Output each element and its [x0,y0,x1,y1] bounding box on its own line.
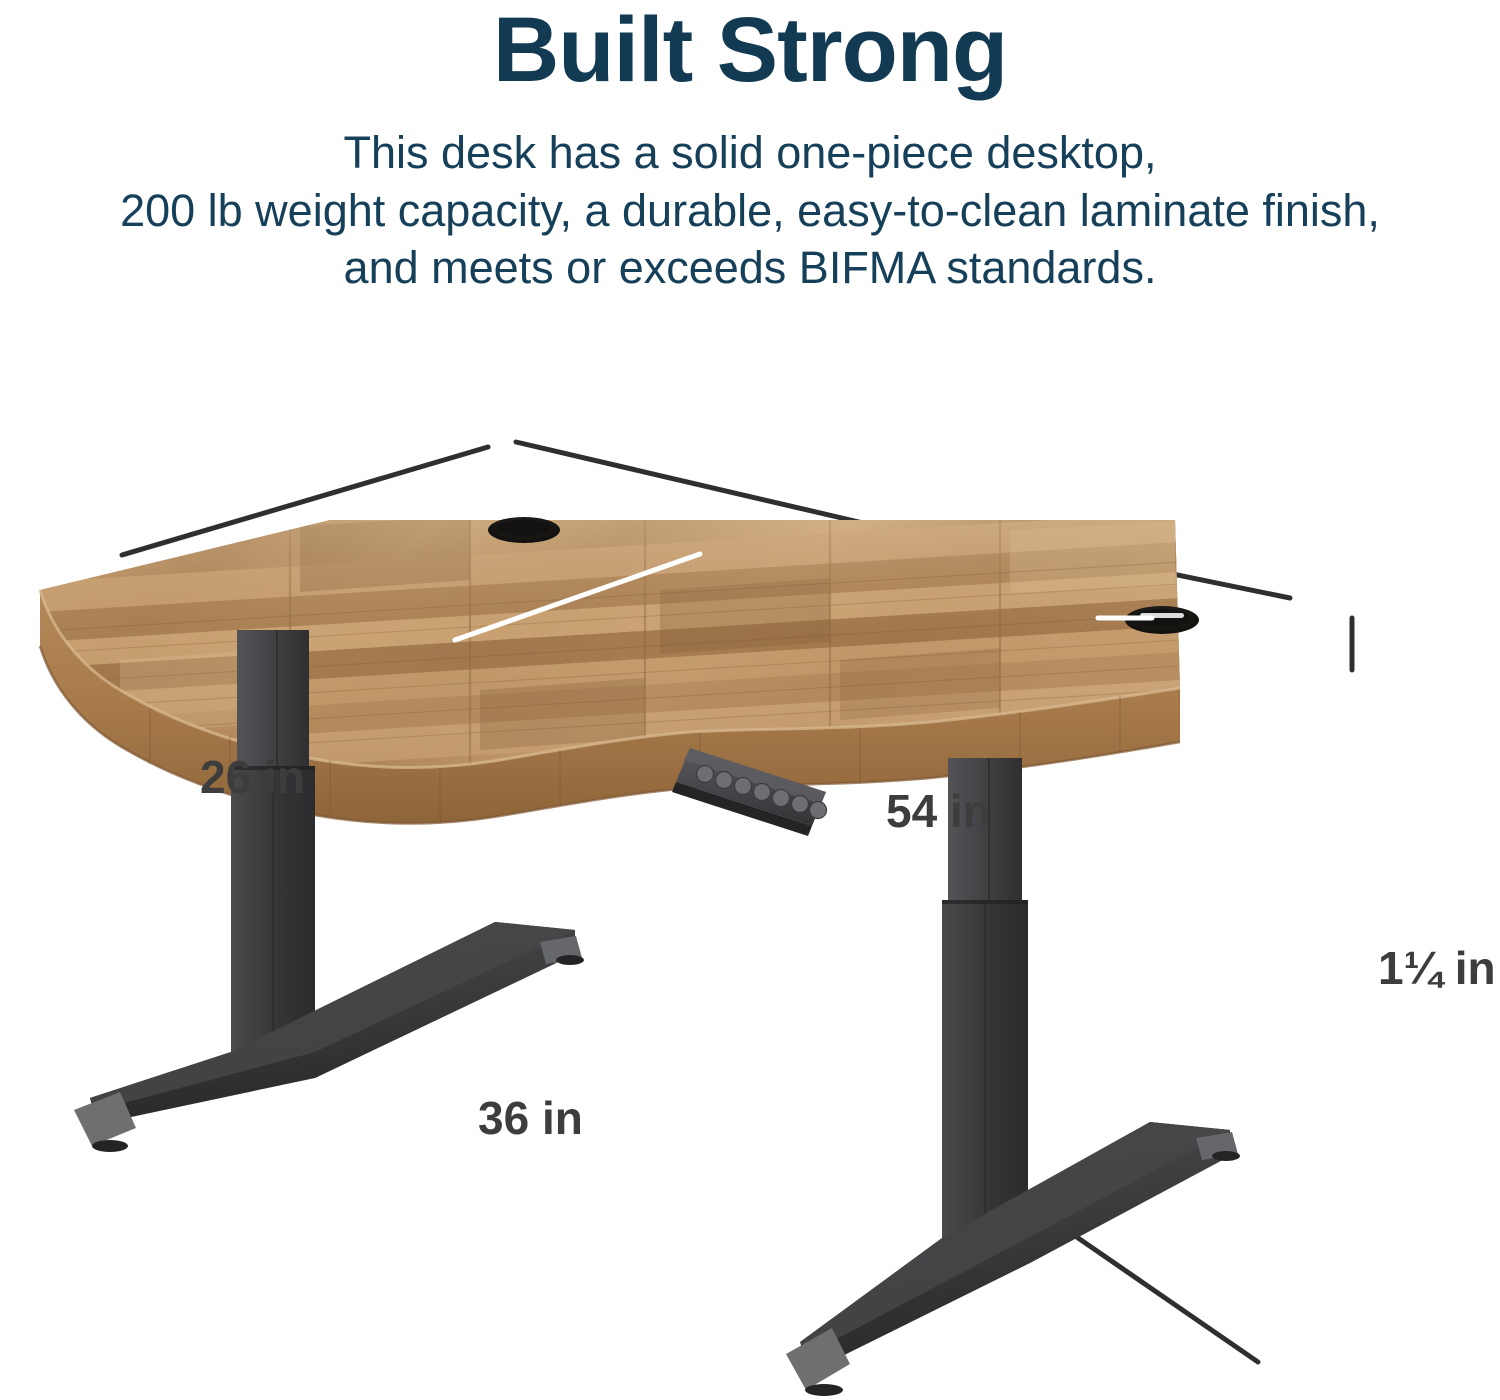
dimension-label-width: 54 in [886,788,991,834]
desk-illustration-stage: 26 in 54 in 1¼ in 36 in 23 in 23½ in 3 i… [0,330,1500,1400]
header-block: Built Strong This desk has a solid one-p… [0,0,1500,297]
leader-line-base-depth [1052,1220,1258,1362]
page-subtitle: This desk has a solid one-piece desktop,… [0,124,1500,297]
button-m [810,802,827,819]
button-4 [792,796,809,813]
dimension-label-edge-offset: 3 in [1081,963,1157,1007]
dimension-label-depth: 26 in [200,754,305,800]
page-title: Built Strong [0,0,1500,96]
infographic-page: Built Strong This desk has a solid one-p… [0,0,1500,1400]
subtitle-line-3: and meets or exceeds BIFMA standards. [0,239,1500,297]
button-1 [735,778,752,795]
subtitle-line-1: This desk has a solid one-piece desktop, [0,124,1500,182]
button-3 [773,790,790,807]
left-leg-upper-column [237,630,309,770]
dimension-label-thickness: 1¼ in [1378,945,1496,991]
button-2 [754,784,771,801]
desktop [0,500,1250,824]
desk-diagram [0,330,1500,1400]
button-down [716,772,733,789]
subtitle-line-2: 200 lb weight capacity, a durable, easy-… [0,182,1500,240]
button-up [697,766,714,783]
dimension-label-inner-depth: 23½ in [764,918,901,962]
left-grommet [488,517,560,543]
dimension-label-height: 36 in [478,1095,583,1141]
leader-line-width-left [516,442,876,526]
